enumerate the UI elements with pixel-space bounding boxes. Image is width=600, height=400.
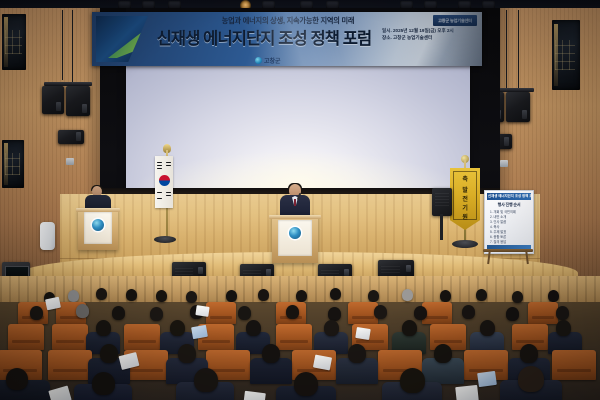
projection-screen [126,66,470,194]
auditorium-seat [8,324,44,350]
audience-head [258,289,269,301]
speaker-rigging [72,10,73,82]
speaker-tie [294,199,296,206]
hanging-speaker [506,92,530,122]
audience-head [480,320,495,336]
audience-head [414,306,427,320]
hanging-speaker [66,86,90,116]
program-paper [355,327,371,340]
program-board: 신재생 에너지단지 조성 정책 포럼 행사 진행 순서 1. 개회 및 국민의례… [484,190,534,254]
audience-head [324,320,339,336]
forum-speaker [278,184,312,218]
audience-head [548,290,559,302]
auditorium-seat [124,324,160,350]
wall-outlet [66,158,74,165]
hanging-speaker [42,86,64,114]
audience-head [506,307,519,321]
audience-head [434,344,452,363]
audience-head [238,306,251,320]
flag-stand-base [154,236,176,243]
audience-head [30,306,43,320]
audience-head [556,320,571,336]
auditorium-seat [48,350,92,380]
speaker-rigging [62,10,63,80]
audience-area [0,276,600,400]
stage-monitor [378,260,414,277]
main-podium [272,215,318,263]
wall-outlet [500,160,508,167]
auditorium-seat [52,324,88,350]
audience-head [286,305,299,319]
audience-head [178,344,196,363]
audience-head [100,344,118,363]
auditorium-seat [528,302,558,324]
audience-head [186,291,197,303]
audience-head [112,306,125,320]
audience-head [126,289,137,301]
auditorium-seat [276,324,312,350]
gochang-emblem-icon [92,219,104,231]
podium-top [76,208,121,212]
audience-head [226,290,237,302]
program-paper [48,386,71,400]
audience-head [476,289,487,301]
program-paper [191,325,208,339]
program-paper [243,391,266,400]
wall-niche-left-lower [2,140,24,188]
audience-head [170,320,185,336]
event-banner: 농업과 에너지의 상생, 지속가능한 지역의 미래 신재생 에너지단지 조성 정… [92,12,482,66]
audience-head [374,305,387,319]
congrats-stand-base [452,240,478,248]
audience-head [92,372,115,395]
auditorium-photo: 농업과 에너지의 상생, 지속가능한 지역의 미래 신재생 에너지단지 조성 정… [0,0,600,400]
program-board-bar-title: 신재생 에너지단지 조성 정책 포럼 [488,193,534,198]
program-paper [195,305,209,317]
congratulatory-banner: 축 발 전 기 원 [450,168,480,230]
program-board-title: 행사 진행 순서 [485,202,533,208]
audience-head [194,368,218,392]
audience-head [520,344,538,363]
audience-head [330,288,341,300]
audience-head [402,320,417,336]
air-purifier [40,222,55,250]
gochang-emblem-icon [289,227,301,239]
speaker-rigging [506,10,507,88]
congrats-char: 기 [450,203,480,212]
speaker-stand [440,214,443,240]
taeguk-symbol-icon [159,175,170,186]
audience-head [512,291,523,303]
program-paper [455,385,479,400]
audience-head [96,320,111,336]
audience-head [96,288,107,300]
audience-head [518,366,544,392]
congrats-char: 원 [450,212,480,221]
audience-head [400,368,425,393]
audience-head [556,306,569,320]
easel-legs [486,250,530,264]
audience-head [348,344,366,363]
side-podium [78,208,118,250]
audience-head [328,307,341,321]
program-paper [477,371,497,387]
korean-flag-icon [155,156,173,208]
audience-head [156,290,167,302]
audience-head [368,290,379,302]
audience-head [6,368,28,390]
auditorium-seat [552,350,596,380]
wall-niche-right [552,20,580,90]
banner-sheen [92,12,482,66]
audience-head [296,290,307,302]
speaker-rigging [518,10,519,90]
audience-head [262,344,280,363]
congrats-char: 축 [450,174,480,183]
audience-head [150,307,163,321]
congrats-char: 전 [450,194,480,203]
auditorium-seat [206,302,236,324]
stage-side-speaker [432,188,452,216]
audience-head [402,289,413,301]
congrats-char: 발 [450,185,480,194]
audience-head [462,305,475,319]
wall-niche-left [2,14,26,70]
audience-head [76,304,89,318]
audience-head [246,320,261,336]
hanging-subwoofer [58,130,84,144]
podium-top [269,215,321,219]
audience-head [440,290,451,302]
audience-head [294,372,318,396]
audience-head [68,290,79,302]
